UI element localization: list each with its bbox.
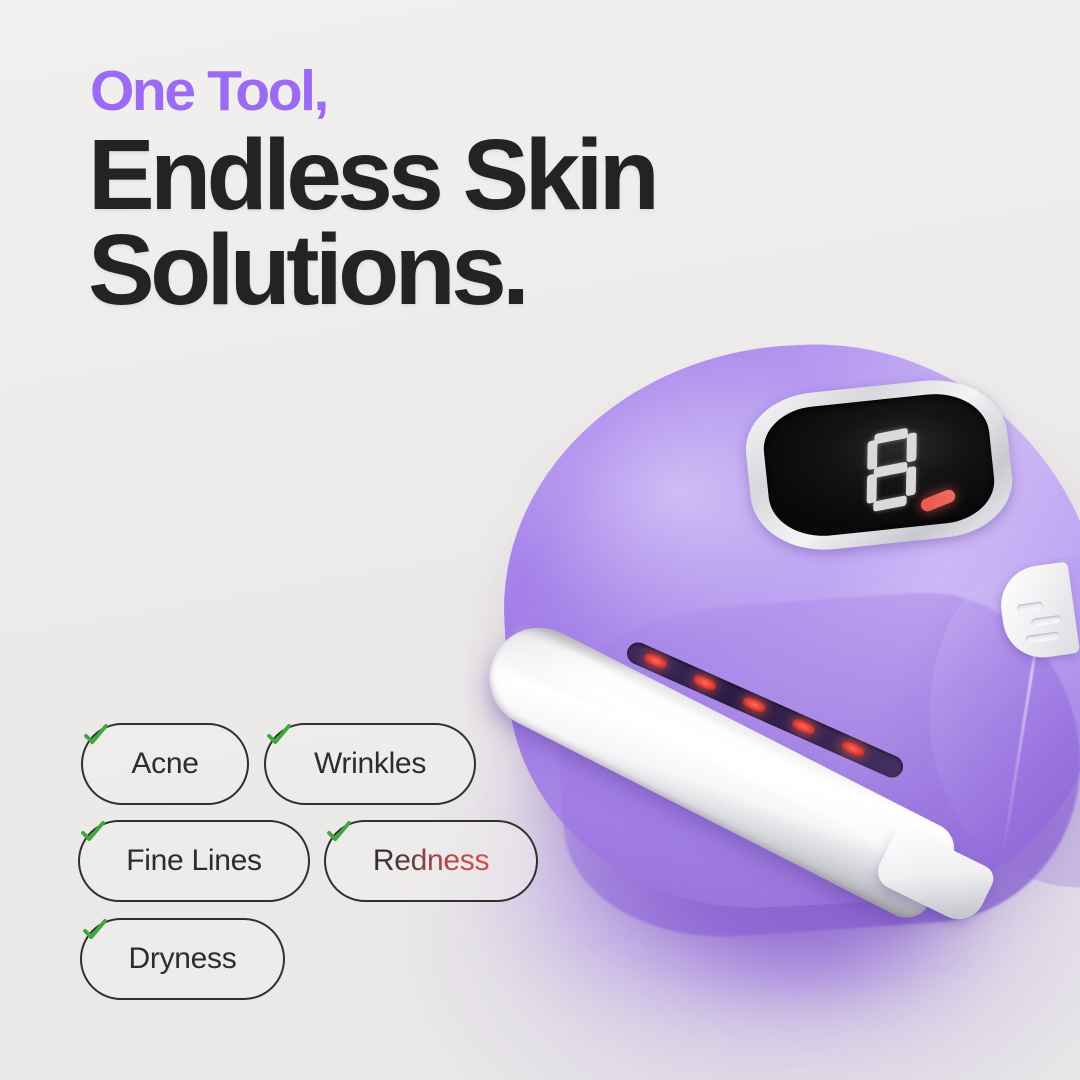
check-icon — [80, 914, 110, 944]
check-icon — [264, 719, 294, 749]
benefit-pill-label: Dryness — [129, 942, 237, 976]
check-icon — [81, 719, 111, 749]
benefit-pill-wrinkles[interactable]: Wrinkles — [264, 723, 476, 805]
benefit-pill-fine-lines[interactable]: Fine Lines — [78, 820, 310, 902]
check-icon — [324, 816, 354, 846]
benefit-pill-label: Wrinkles — [314, 747, 426, 781]
promo-canvas: One Tool, Endless Skin Solutions. — [0, 0, 1080, 1080]
benefit-pill-group: Acne Wrinkles Fine Lines Redness Dryness — [0, 0, 1080, 1080]
benefit-pill-label: Acne — [131, 747, 198, 781]
benefit-pill-label: Fine Lines — [126, 844, 261, 878]
benefit-pill-redness[interactable]: Redness — [324, 820, 538, 902]
check-icon — [78, 816, 108, 846]
benefit-pill-acne[interactable]: Acne — [81, 723, 249, 805]
benefit-pill-label: Redness — [373, 844, 489, 878]
benefit-pill-dryness[interactable]: Dryness — [80, 918, 285, 1000]
